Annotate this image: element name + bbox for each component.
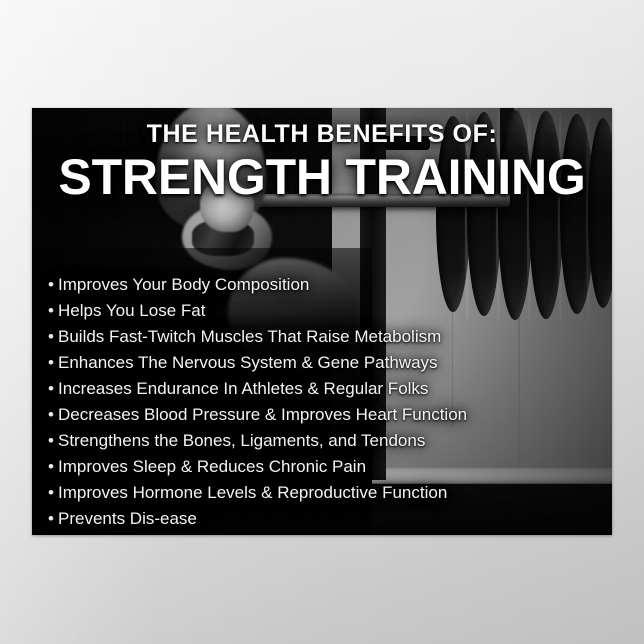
list-item: •Improves Your Body Composition bbox=[48, 272, 518, 298]
list-item: •Strengthens the Bones, Ligaments, and T… bbox=[48, 428, 518, 454]
list-item-label: Increases Endurance In Athletes & Regula… bbox=[58, 379, 428, 398]
list-item-label: Strengthens the Bones, Ligaments, and Te… bbox=[58, 431, 425, 450]
bullet-icon: • bbox=[48, 506, 58, 532]
list-item-label: Improves Hormone Levels & Reproductive F… bbox=[58, 483, 447, 502]
poster-subtitle: THE HEALTH BENEFITS OF: bbox=[32, 122, 612, 147]
list-item-label: Helps You Lose Fat bbox=[58, 301, 205, 320]
benefits-list: •Improves Your Body Composition •Helps Y… bbox=[48, 272, 518, 532]
bullet-icon: • bbox=[48, 298, 58, 324]
list-item-label: Prevents Dis-ease bbox=[58, 509, 197, 528]
poster-photograph: THE HEALTH BENEFITS OF: STRENGTH TRAININ… bbox=[32, 108, 612, 535]
list-item-label: Decreases Blood Pressure & Improves Hear… bbox=[58, 405, 467, 424]
bullet-icon: • bbox=[48, 480, 58, 506]
bullet-icon: • bbox=[48, 350, 58, 376]
bullet-icon: • bbox=[48, 272, 58, 298]
bullet-icon: • bbox=[48, 376, 58, 402]
page-title: STRENGTH TRAINING bbox=[32, 151, 612, 203]
list-item-label: Builds Fast-Twitch Muscles That Raise Me… bbox=[58, 327, 441, 346]
list-item: •Helps You Lose Fat bbox=[48, 298, 518, 324]
list-item: •Decreases Blood Pressure & Improves Hea… bbox=[48, 402, 518, 428]
lifter-forearm bbox=[182, 204, 272, 270]
poster-title-block: THE HEALTH BENEFITS OF: STRENGTH TRAININ… bbox=[32, 122, 612, 203]
lifter-wrist-wrap bbox=[192, 220, 254, 256]
bullet-icon: • bbox=[48, 454, 58, 480]
list-item: •Enhances The Nervous System & Gene Path… bbox=[48, 350, 518, 376]
bullet-icon: • bbox=[48, 324, 58, 350]
bullet-icon: • bbox=[48, 402, 58, 428]
list-item-label: Enhances The Nervous System & Gene Pathw… bbox=[58, 353, 438, 372]
list-item-label: Improves Your Body Composition bbox=[58, 275, 309, 294]
list-item: •Builds Fast-Twitch Muscles That Raise M… bbox=[48, 324, 518, 350]
list-item: •Increases Endurance In Athletes & Regul… bbox=[48, 376, 518, 402]
list-item: •Improves Sleep & Reduces Chronic Pain bbox=[48, 454, 518, 480]
list-item: •Improves Hormone Levels & Reproductive … bbox=[48, 480, 518, 506]
poster-canvas: THE HEALTH BENEFITS OF: STRENGTH TRAININ… bbox=[0, 0, 644, 644]
list-item-label: Improves Sleep & Reduces Chronic Pain bbox=[58, 457, 366, 476]
list-item: •Prevents Dis-ease bbox=[48, 506, 518, 532]
bullet-icon: • bbox=[48, 428, 58, 454]
